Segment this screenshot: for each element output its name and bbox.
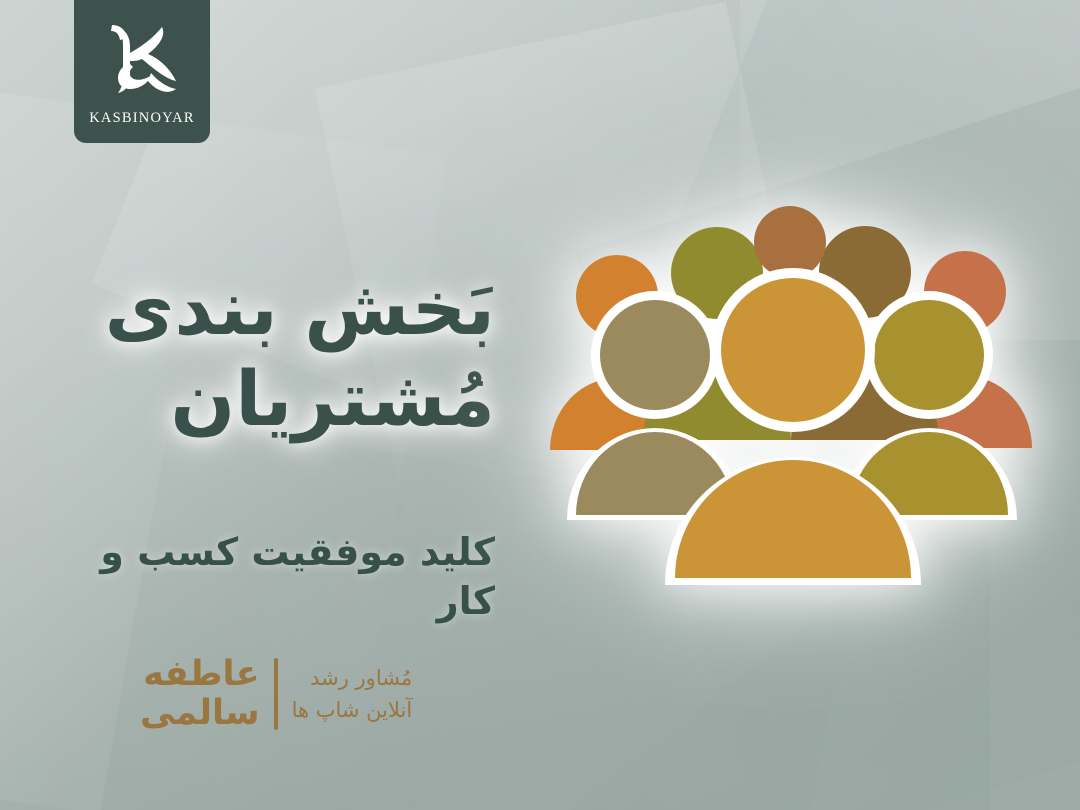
page-title: بَخش بندی مُشتریان <box>80 262 495 445</box>
author-role-line-2: آنلاین شاپ ها <box>292 694 413 727</box>
page-subtitle: کلید موفقیت کسب و کار <box>80 528 495 627</box>
page-title-line-2: مُشتریان <box>80 353 495 446</box>
author-name-line-2: سالمی <box>140 694 260 733</box>
slide-canvas: KASBINOYAR بَخش بندی مُشتریان کلید موفقی… <box>0 0 1080 810</box>
brand-logo[interactable]: KASBINOYAR <box>74 0 210 143</box>
author-name-line-1: عاطفه <box>140 655 260 694</box>
author-signature: عاطفه سالمی مُشاور رشد آنلاین شاپ ها <box>140 655 412 733</box>
signature-divider <box>274 658 278 730</box>
author-role-line-1: مُشاور رشد <box>292 662 413 695</box>
kasbinoyar-k-monogram-icon <box>96 23 188 105</box>
brand-wordmark: KASBINOYAR <box>89 110 194 127</box>
author-name: عاطفه سالمی <box>140 655 260 733</box>
author-role: مُشاور رشد آنلاین شاپ ها <box>292 662 413 727</box>
people-group-icon <box>532 200 1052 610</box>
page-title-line-1: بَخش بندی <box>80 262 495 355</box>
